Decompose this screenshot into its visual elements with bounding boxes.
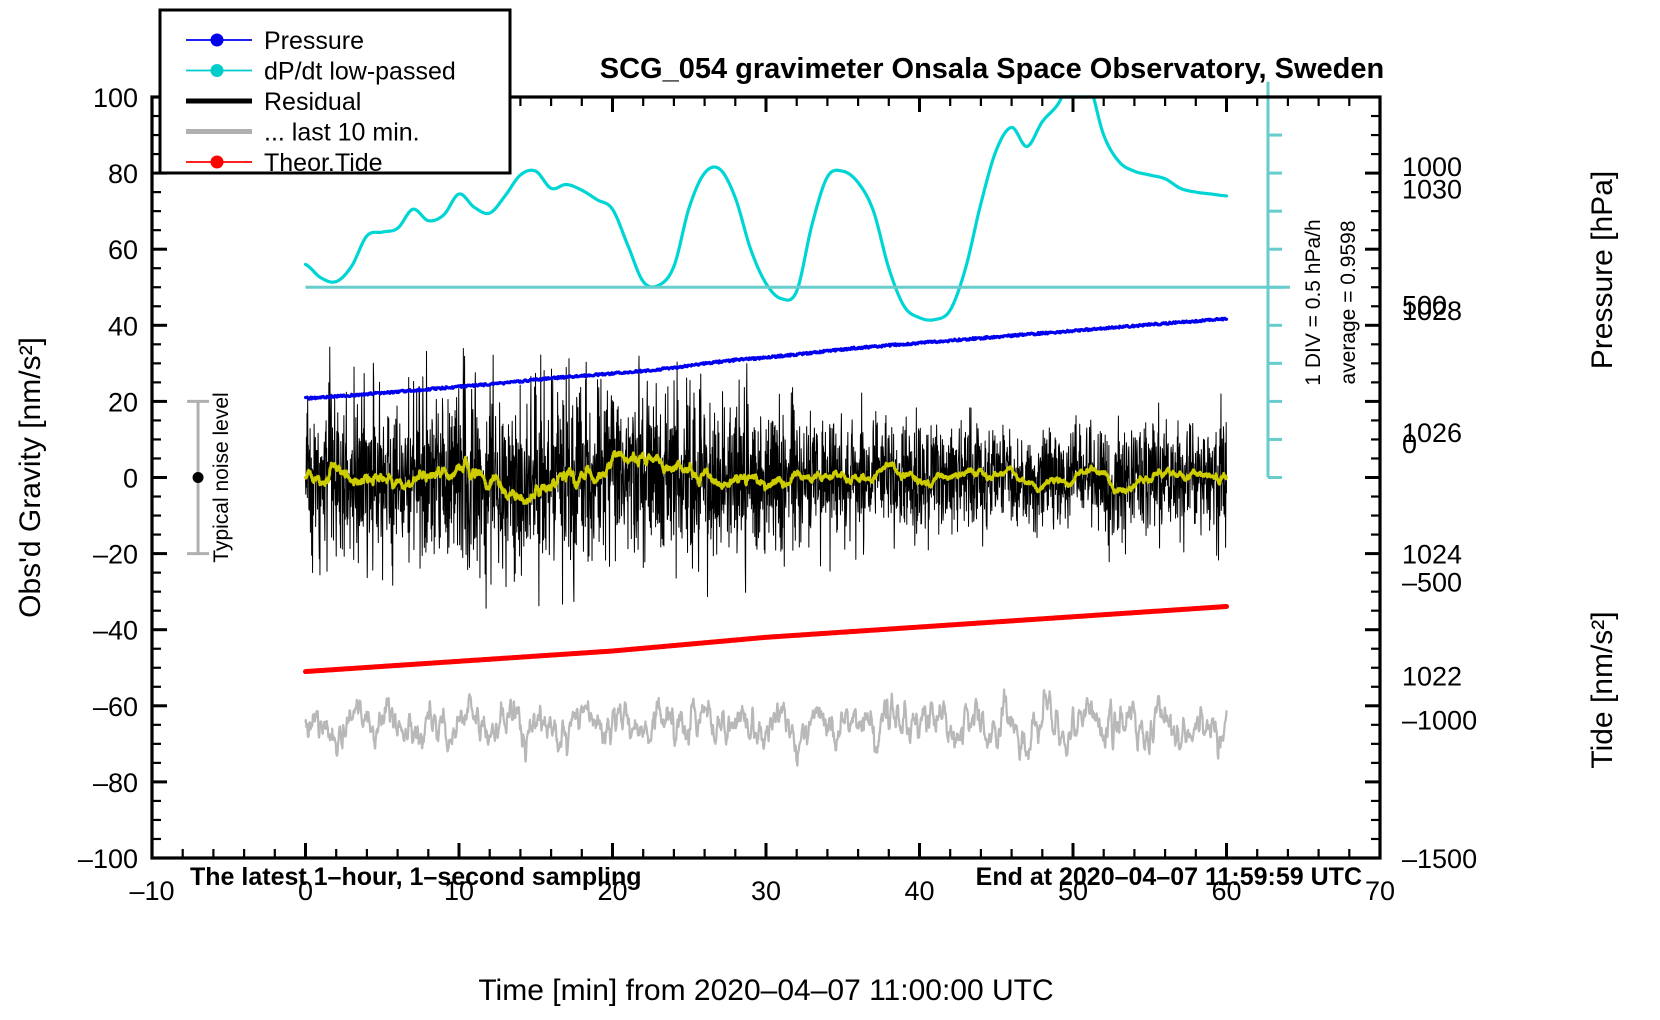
y-left-tick-label: –80: [93, 768, 138, 798]
y-left-tick-label: –100: [78, 844, 138, 874]
y-left-tick-label: –60: [93, 692, 138, 722]
legend-label-5: Theor.Tide: [264, 149, 383, 177]
y-right-tide-tick-label: 1000: [1402, 152, 1462, 182]
x-tick-label: 30: [751, 876, 781, 906]
y-right-pressure-axis-label: Pressure [hPa]: [1586, 171, 1619, 369]
y-right-tide-tick-label: –1000: [1402, 706, 1477, 736]
y-left-tick-label: –20: [93, 540, 138, 570]
x-axis-label: Time [min] from 2020–04–07 11:00:00 UTC: [478, 974, 1053, 1007]
legend-label-3: Residual: [264, 88, 361, 116]
annotation-bottom-right: End at 2020–04–07 11:59:59 UTC: [976, 863, 1362, 891]
dpdt-average-label: average = 0.9598: [1337, 220, 1360, 384]
x-tick-label: 70: [1365, 876, 1395, 906]
dpdt-scale-label: 1 DIV = 0.5 hPa/h: [1302, 219, 1325, 385]
x-tick-label: 40: [904, 876, 934, 906]
y-right-pressure-tick-label: 1024: [1402, 540, 1462, 570]
plot-title: SCG_054 gravimeter Onsala Space Observat…: [600, 53, 1384, 85]
annotation-bottom-left: The latest 1–hour, 1–second sampling: [190, 863, 642, 891]
y-left-tick-label: 0: [123, 464, 138, 494]
y-left-axis-label: Obs'd Gravity [nm/s²]: [14, 337, 47, 618]
x-tick-label: –10: [129, 876, 174, 906]
gravimeter-plot-page: 1 DIV = 0.5 hPa/haverage = 0.9598Typical…: [0, 0, 1660, 1020]
noise-bar-center-dot: [193, 472, 204, 483]
y-right-tide-tick-label: 0: [1402, 429, 1417, 459]
y-left-tick-label: 20: [108, 387, 138, 417]
noise-bar-label: Typical noise level: [210, 392, 233, 562]
plot-canvas: 1 DIV = 0.5 hPa/haverage = 0.9598Typical…: [0, 0, 1660, 1020]
y-right-tide-tick-label: –1500: [1402, 844, 1477, 874]
legend-marker-5: [211, 156, 224, 169]
y-right-tide-tick-label: 500: [1402, 291, 1447, 321]
y-right-tide-tick-label: –500: [1402, 567, 1462, 597]
y-right-tide-axis-label: Tide [nm/s²]: [1586, 611, 1619, 768]
legend-marker-1: [211, 34, 224, 47]
legend-marker-2: [211, 64, 224, 77]
y-left-tick-label: 100: [93, 83, 138, 113]
legend-label-4: ... last 10 min.: [264, 119, 420, 147]
y-right-pressure-tick-label: 1022: [1402, 661, 1462, 691]
y-left-tick-label: 60: [108, 235, 138, 265]
y-left-tick-label: 40: [108, 311, 138, 341]
legend-label-2: dP/dt low-passed: [264, 58, 456, 86]
y-left-tick-label: –40: [93, 616, 138, 646]
y-left-tick-label: 80: [108, 159, 138, 189]
legend-label-1: Pressure: [264, 27, 364, 55]
